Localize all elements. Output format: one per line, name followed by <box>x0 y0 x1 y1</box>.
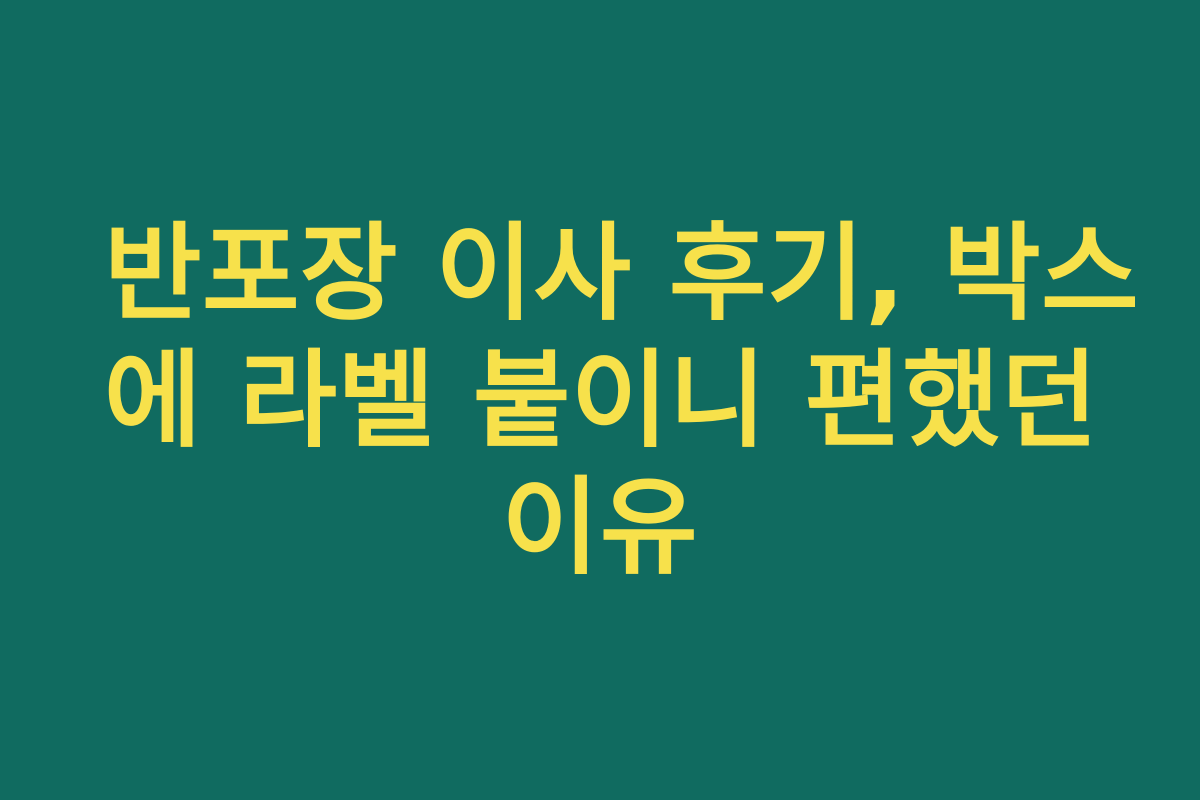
title-line-2: 에 라벨 붙이니 편했던 <box>104 337 1096 464</box>
title-line-3: 이유 <box>104 464 1096 591</box>
title-line-1: 반포장 이사 후기, 박스 <box>104 210 1096 337</box>
title-card: 반포장 이사 후기, 박스 에 라벨 붙이니 편했던 이유 <box>0 0 1200 800</box>
page-title: 반포장 이사 후기, 박스 에 라벨 붙이니 편했던 이유 <box>0 210 1200 591</box>
